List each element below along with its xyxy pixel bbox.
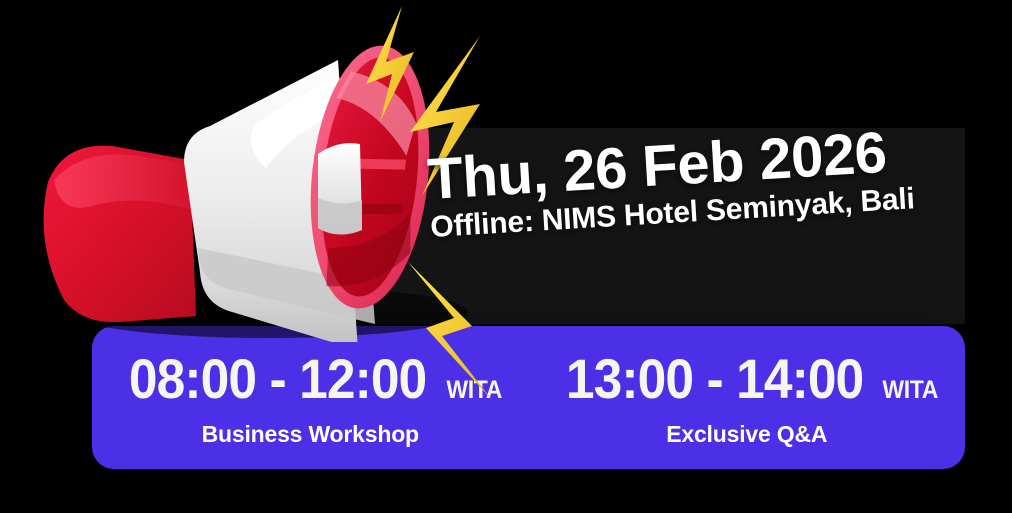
session-time-row: 08:00 - 12:00 WITA [116, 351, 504, 407]
event-info-panel [300, 128, 965, 324]
lightning-bolt-upper-icon [366, 6, 414, 122]
session-timezone: WITA [446, 378, 502, 403]
promo-banner: 08:00 - 12:00 WITA Business Workshop 13:… [0, 0, 1012, 513]
session-block-afternoon[interactable]: 13:00 - 14:00 WITA Exclusive Q&A [529, 326, 966, 469]
session-timezone: WITA [883, 378, 939, 403]
session-time-row: 13:00 - 14:00 WITA [553, 351, 941, 407]
session-time-range: 13:00 - 14:00 [566, 351, 863, 407]
session-title: Exclusive Q&A [666, 421, 827, 448]
session-title: Business Workshop [202, 421, 419, 448]
megaphone-handle-highlight [54, 154, 208, 214]
session-block-morning[interactable]: 08:00 - 12:00 WITA Business Workshop [92, 326, 529, 469]
session-time-range: 08:00 - 12:00 [129, 351, 426, 407]
megaphone-handle [44, 146, 196, 323]
schedule-band: 08:00 - 12:00 WITA Business Workshop 13:… [92, 326, 965, 469]
